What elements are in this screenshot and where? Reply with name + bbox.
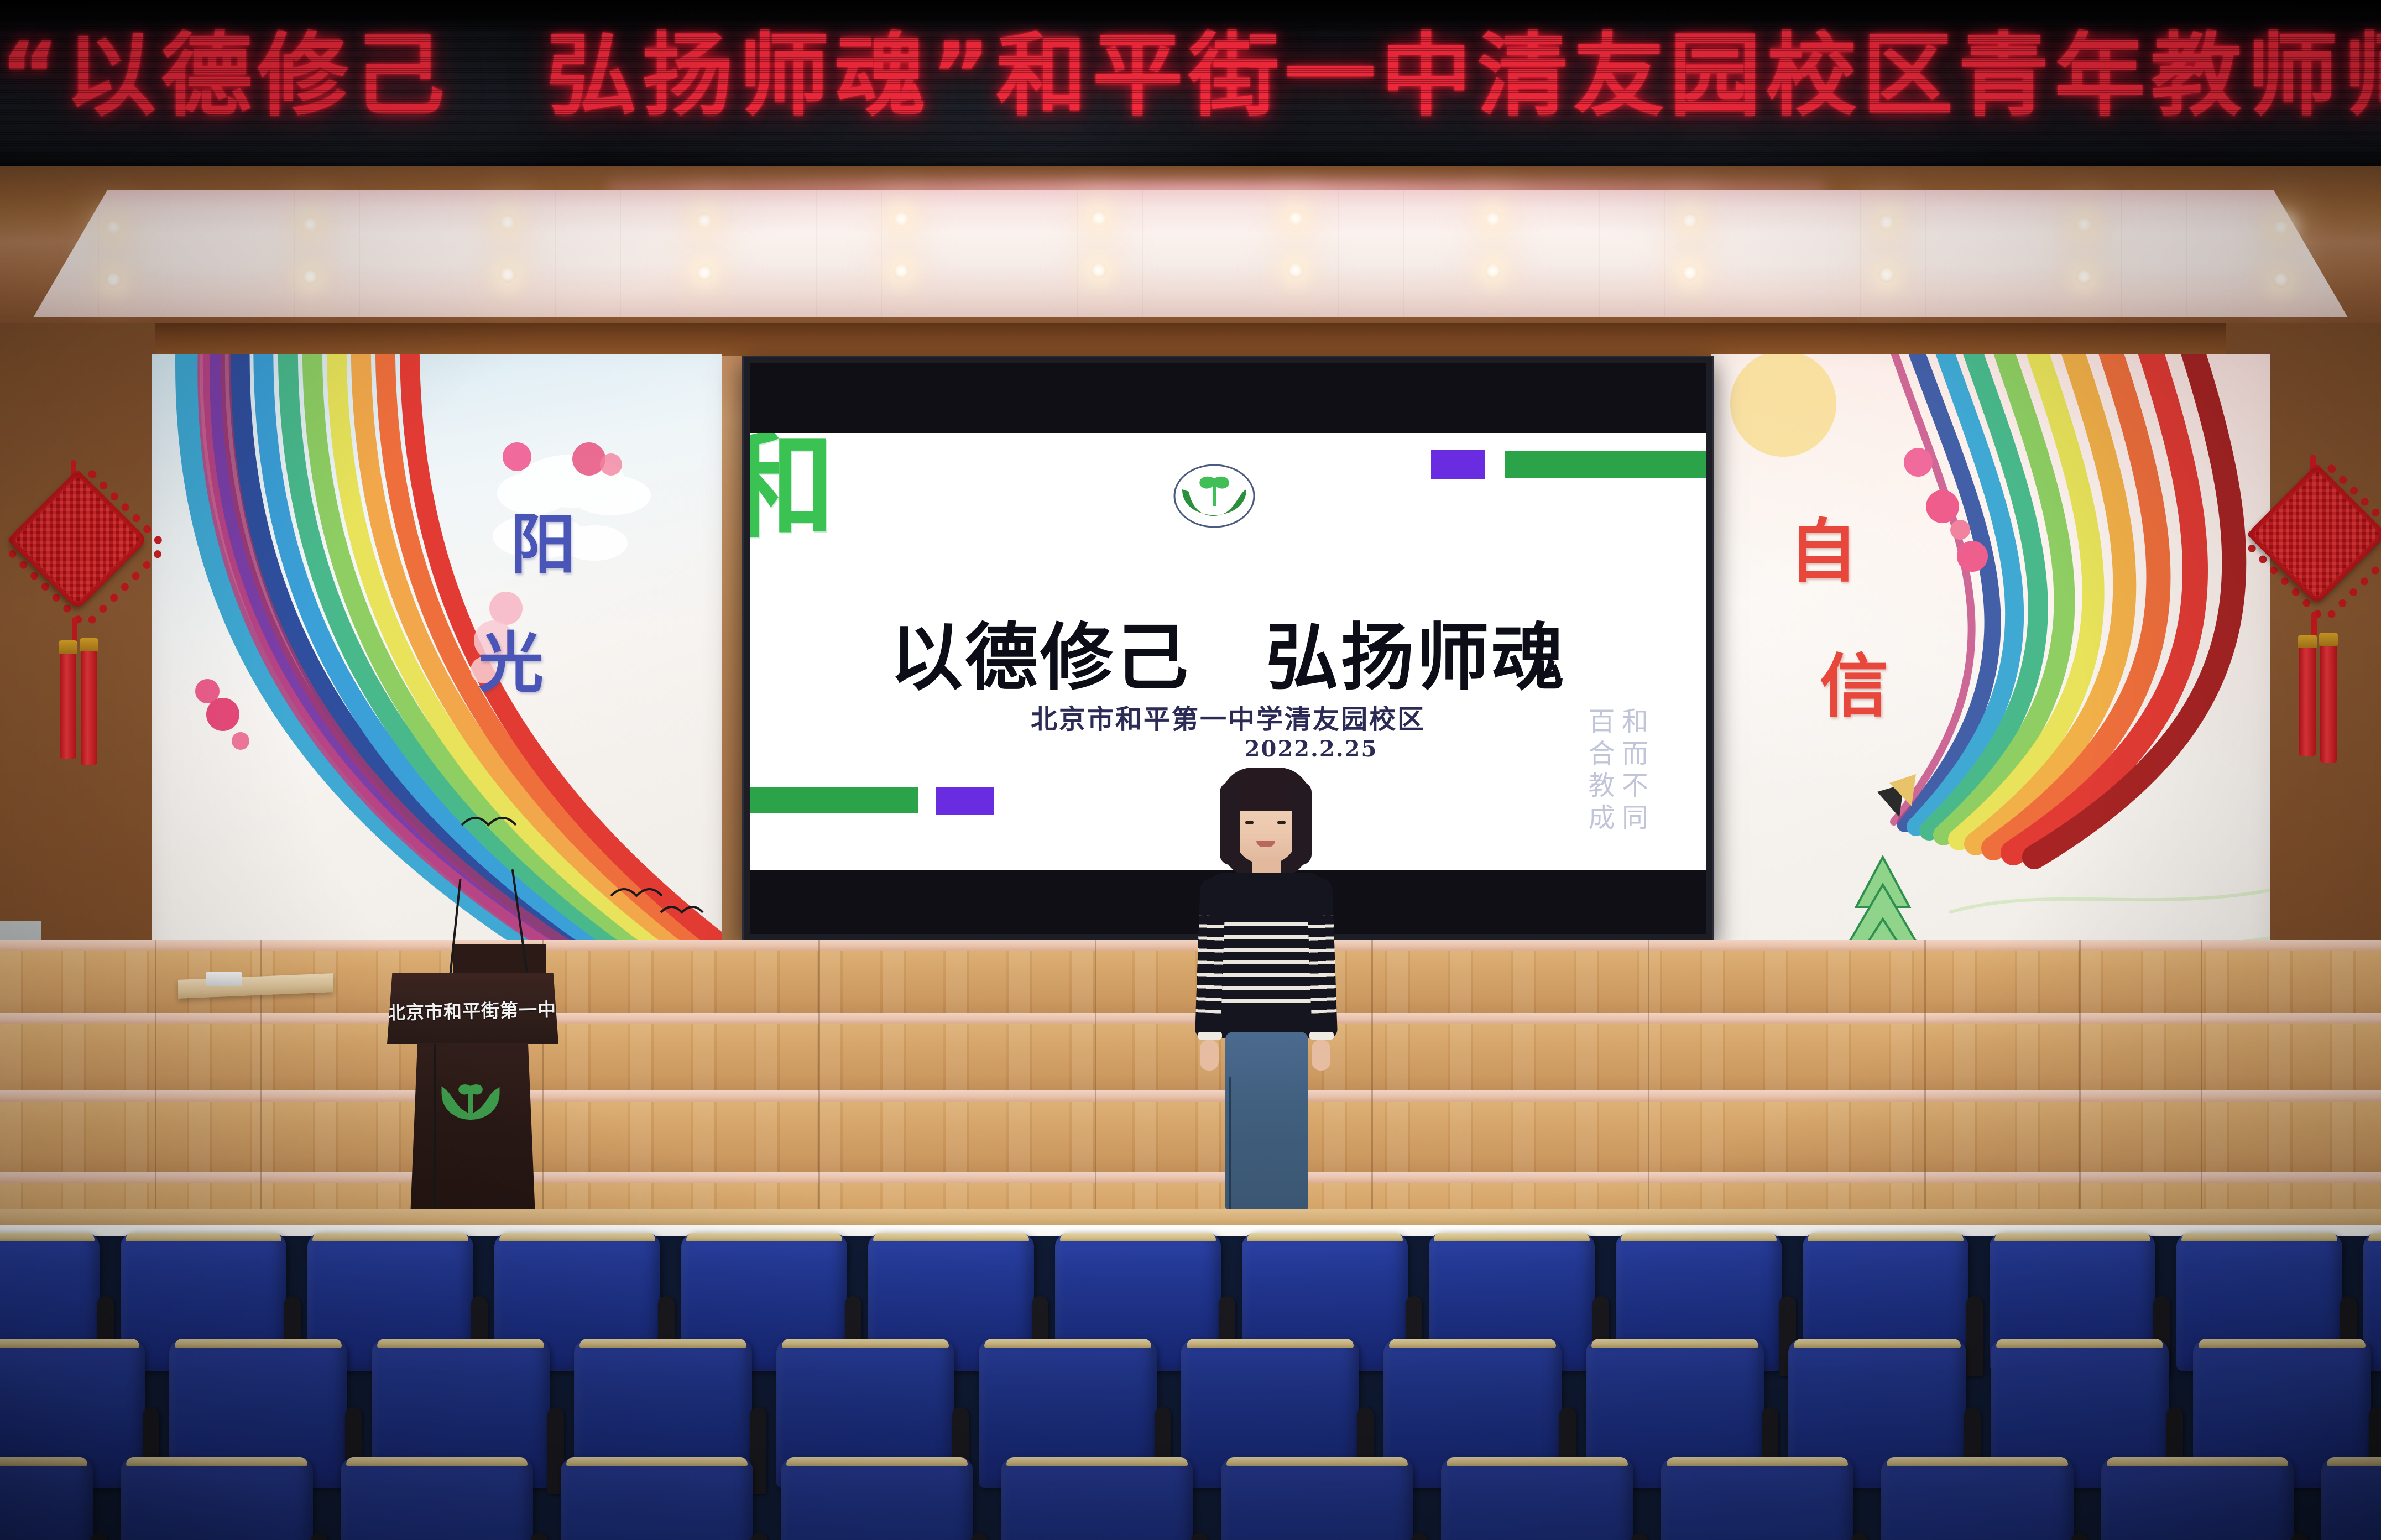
seat-top-trim: [1247, 1233, 1403, 1241]
seat-top-trim: [1591, 1339, 1759, 1348]
seat-top-trim: [0, 1339, 139, 1348]
mural-left-word-line2: 光: [478, 630, 544, 696]
seat-backrest: [1441, 1457, 1633, 1540]
auditorium-seat[interactable]: [2321, 1457, 2381, 1540]
knot-lower-cord-left: [72, 617, 77, 643]
seat-top-trim: [175, 1339, 342, 1348]
slide-block-purple-top: [1431, 450, 1485, 479]
riser-seam: [1648, 940, 1649, 1013]
seat-top-trim: [579, 1339, 747, 1348]
knot-tassel-right-b: [2320, 646, 2337, 763]
mural-left-word-line1: 阳: [510, 512, 576, 577]
seat-backrest: [1661, 1457, 1853, 1540]
seat-armrest: [531, 1533, 547, 1540]
mural-right-word-line1: 自: [1789, 518, 1857, 586]
podium-cable: [434, 1044, 458, 1226]
slide-block-purple-bottom: [936, 787, 994, 815]
seat-top-trim: [1226, 1457, 1407, 1466]
auditorium-seat[interactable]: [1881, 1457, 2074, 1540]
ceiling-downlight: [696, 212, 713, 229]
ceiling-downlight: [1090, 210, 1107, 227]
seat-top-trim: [566, 1457, 747, 1466]
seat-armrest: [1631, 1533, 1648, 1540]
speaker-arm-right: [1307, 878, 1338, 1038]
auditorium-seat[interactable]: [1221, 1457, 1413, 1540]
riser-seam: [2079, 940, 2081, 1013]
seat-top-trim: [1006, 1457, 1187, 1466]
slide-vertical-motto: 和而不同 百合教成: [1582, 707, 1649, 870]
riser-seam: [1095, 1090, 1096, 1172]
ceiling-downlight: [499, 266, 516, 283]
ceiling-downlight: [1090, 262, 1107, 279]
riser-seam: [1924, 1013, 1926, 1090]
seat-armrest: [1411, 1533, 1428, 1540]
riser-seam: [1095, 1013, 1096, 1090]
banner-top-shadow: [0, 0, 2381, 32]
ceiling-downlight: [2273, 219, 2289, 236]
seat-backrest: [1001, 1457, 1193, 1540]
seat-top-trim: [1060, 1233, 1216, 1241]
seat-armrest: [971, 1533, 988, 1540]
seat-top-trim: [2199, 1339, 2366, 1348]
seat-top-trim: [346, 1457, 527, 1466]
seat-top-trim: [2181, 1233, 2337, 1241]
seat-armrest: [1851, 1533, 1868, 1540]
ceiling-panel: [33, 190, 2348, 317]
podium: 北京市和平街第一中学: [387, 973, 558, 1233]
mural-left: 阳 光 阳光: [152, 354, 722, 1012]
led-banner-text: “以德修己 弘扬师魂”和平街一中清友园校区青年教师师德演讲: [0, 22, 2381, 129]
seat-top-trim: [499, 1233, 655, 1241]
seat-armrest: [311, 1533, 327, 1540]
riser-seam: [818, 1013, 820, 1090]
knot-tassel-cap-right-a: [2298, 635, 2317, 649]
knot-tassel-left-a: [60, 654, 76, 759]
speaker-hand-left: [1200, 1040, 1219, 1071]
auditorium-seat[interactable]: [561, 1457, 753, 1540]
riser-seam: [2201, 1013, 2202, 1090]
seat-backrest: [0, 1457, 93, 1540]
seat-top-trim: [1887, 1457, 2067, 1466]
seat-top-trim: [312, 1233, 468, 1241]
seat-top-trim: [126, 1233, 281, 1241]
seat-top-trim: [1808, 1233, 1964, 1241]
seat-top-trim: [984, 1339, 1152, 1348]
seat-top-trim: [686, 1233, 842, 1241]
riser-seam: [2201, 1090, 2202, 1172]
seat-top-trim: [0, 1457, 87, 1466]
ceiling-downlight: [1682, 212, 1698, 229]
knot-tassel-left-b: [81, 651, 97, 765]
stage-equipment-box: [206, 972, 242, 986]
slide-he-character: 和: [750, 433, 833, 545]
seat-top-trim: [1794, 1339, 1961, 1348]
auditorium-seat[interactable]: [1441, 1457, 1633, 1540]
speaker-jeans-seam: [1229, 1077, 1231, 1210]
riser-seam: [2079, 1090, 2081, 1172]
seat-top-trim: [2107, 1457, 2288, 1466]
seat-top-trim: [2327, 1457, 2381, 1466]
ceiling-downlight: [1485, 263, 1501, 279]
riser-seam: [155, 1013, 156, 1090]
seat-top-trim: [1667, 1457, 1847, 1466]
knot-lower-cord-right: [2311, 612, 2317, 637]
auditorium-seat[interactable]: [341, 1457, 533, 1540]
seat-armrest: [2291, 1533, 2308, 1540]
riser-seam: [260, 1013, 262, 1090]
ceiling-downlight: [105, 219, 122, 236]
auditorium-seat[interactable]: [0, 1457, 93, 1540]
ceiling-downlight: [2273, 271, 2289, 288]
ceiling-downlight: [2076, 268, 2092, 285]
ceiling: [0, 166, 2381, 332]
seat-backrest: [1221, 1457, 1413, 1540]
mural-right: 自 信 自信: [1711, 354, 2270, 1012]
seat-top-trim: [1994, 1233, 2150, 1241]
audience-seating: [0, 1236, 2381, 1540]
seat-top-trim: [786, 1457, 967, 1466]
speaker-hair-side-left: [1220, 782, 1240, 865]
riser-seam: [1924, 1090, 1926, 1172]
seat-top-trim: [1621, 1233, 1777, 1241]
mural-left-rainbow: [152, 354, 722, 1012]
riser-seam: [155, 940, 156, 1013]
seat-armrest: [1966, 1296, 1983, 1376]
slide-date: 2022.2.25: [750, 736, 1706, 762]
slide-title: 以德修己 弘扬师魂: [750, 599, 1706, 704]
ceiling-downlight: [2076, 216, 2092, 233]
slide-block-green-top: [1505, 451, 1706, 478]
speaker-hand-right: [1312, 1040, 1330, 1071]
slide-block-green-bottom: [750, 787, 918, 813]
ceiling-downlight: [499, 214, 516, 231]
riser-seam: [1648, 1013, 1649, 1090]
seat-armrest: [1191, 1533, 1208, 1540]
seat-backrest: [2321, 1457, 2381, 1540]
ceiling-downlight: [1682, 264, 1698, 281]
seat-top-trim: [1996, 1339, 2164, 1348]
seat-backrest: [2101, 1457, 2294, 1540]
chinese-knot-right: [2262, 481, 2372, 769]
seat-backrest: [121, 1457, 313, 1540]
ceiling-downlight: [1485, 211, 1501, 227]
speaker-cuff-right: [1309, 1032, 1334, 1040]
riser-seam: [2079, 1013, 2081, 1090]
speaker-person: [1189, 768, 1344, 1210]
riser-seam: [2201, 940, 2202, 1013]
auditorium-seat[interactable]: [1661, 1457, 1853, 1540]
riser-seam: [818, 1090, 820, 1172]
chinese-knot-left: [22, 487, 133, 774]
riser-seam: [1648, 1090, 1649, 1172]
seat-armrest: [91, 1533, 107, 1540]
seat-armrest: [751, 1533, 767, 1540]
seat-backrest: [781, 1457, 973, 1540]
speaker-eye-right: [1277, 821, 1286, 824]
ceiling-downlight: [105, 271, 122, 288]
seat-top-trim: [1447, 1457, 1627, 1466]
seat-armrest: [2071, 1533, 2088, 1540]
auditorium-seat[interactable]: [2101, 1457, 2294, 1540]
speaker-arm-stripes-right: [1308, 915, 1336, 1013]
speaker-eye-left: [1245, 821, 1254, 824]
podium-body: [407, 1043, 539, 1233]
auditorium-photo: “以德修己 弘扬师魂”和平街一中清友园校区青年教师师德演讲: [0, 0, 2381, 1540]
seat-top-trim: [126, 1457, 307, 1466]
seat-backrest: [561, 1457, 753, 1540]
slide-subtitle: 北京市和平第一中学清友园校区: [750, 697, 1706, 736]
riser-seam: [818, 940, 820, 1013]
knot-tassel-cap-left-b: [80, 638, 98, 652]
seat-backrest: [1881, 1457, 2074, 1540]
riser-seam: [1924, 940, 1926, 1013]
school-sprout-logo-slide: [1166, 457, 1263, 535]
mural-right-rainbow: [1711, 354, 2270, 1012]
wall-top-strip: [0, 323, 2381, 356]
seat-top-trim: [782, 1339, 949, 1348]
knot-tassel-right-a: [2299, 648, 2316, 756]
seat-top-trim: [377, 1339, 545, 1348]
auditorium-seat[interactable]: [121, 1457, 313, 1540]
speaker-arm-stripes-left: [1196, 915, 1225, 1013]
riser-seam: [1371, 1013, 1373, 1090]
seat-top-trim: [1389, 1339, 1557, 1348]
seat-top-trim: [1187, 1339, 1354, 1348]
speaker-hair-side-right: [1292, 782, 1312, 865]
seat-top-trim: [873, 1233, 1029, 1241]
mural-right-word-line2: 信: [1820, 652, 1888, 721]
podium-sign-text: 北京市和平街第一中学: [387, 995, 559, 1025]
seat-top-trim: [0, 1233, 95, 1241]
speaker-cuff-left: [1198, 1032, 1222, 1040]
podium-top: 北京市和平街第一中学: [387, 973, 558, 1044]
riser-seam: [1371, 940, 1373, 1013]
riser-seam: [1371, 1090, 1373, 1172]
auditorium-seat[interactable]: [781, 1457, 973, 1540]
ceiling-downlight: [696, 264, 713, 281]
knot-tassel-cap-right-b: [2319, 633, 2338, 647]
speaker-jeans: [1225, 1032, 1308, 1210]
seat-backrest: [341, 1457, 533, 1540]
riser-seam: [155, 1090, 156, 1172]
seat-top-trim: [1434, 1233, 1590, 1241]
riser-seam: [260, 1090, 262, 1172]
auditorium-seat[interactable]: [1001, 1457, 1193, 1540]
led-banner: “以德修己 弘扬师魂”和平街一中清友园校区青年教师师德演讲: [0, 0, 2381, 166]
riser-seam: [1095, 940, 1096, 1013]
knot-tassel-cap-left-a: [59, 640, 77, 655]
